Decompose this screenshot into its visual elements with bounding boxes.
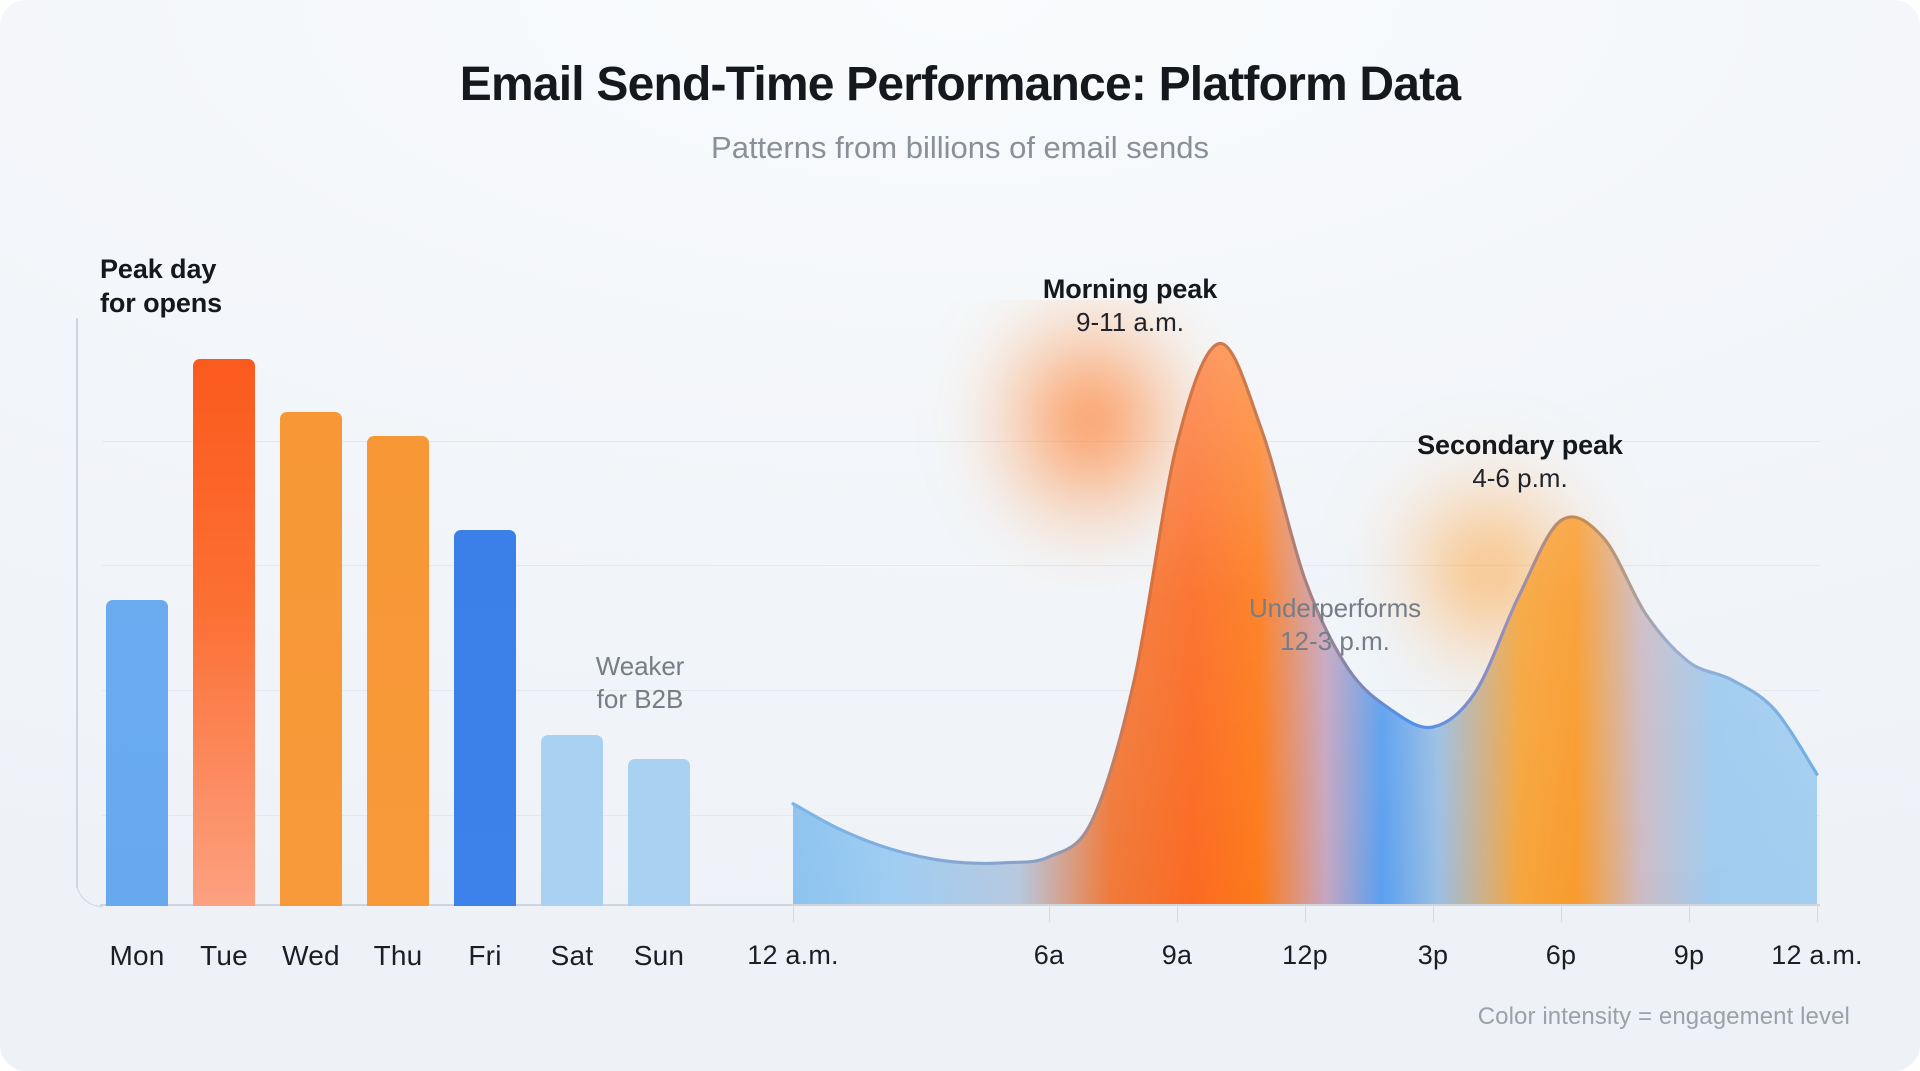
bar-fri <box>454 530 516 906</box>
time-tick-12p-3 <box>1305 905 1306 922</box>
bar-sun <box>628 759 690 906</box>
annotation-peak-day-line1: Peak day <box>100 252 330 286</box>
annotation-underperforms: Underperforms 12-3 p.m. <box>1190 592 1480 658</box>
time-tick-9p-6 <box>1689 905 1690 922</box>
time-label-3: 12p <box>1282 940 1328 971</box>
chart-card: Email Send-Time Performance: Platform Da… <box>0 0 1920 1071</box>
annotation-weaker-line2: for B2B <box>540 683 740 716</box>
weekday-label-sun: Sun <box>604 940 714 972</box>
time-label-1: 6a <box>1034 940 1064 971</box>
annotation-weaker-line1: Weaker <box>540 650 740 683</box>
time-tick-12am-7 <box>1817 905 1818 922</box>
legend-note: Color intensity = engagement level <box>1478 1003 1850 1031</box>
annotation-peak-day-line2: for opens <box>100 286 330 320</box>
bar-thu <box>367 436 429 906</box>
time-label-7: 12 a.m. <box>1771 940 1862 971</box>
annotation-morning-peak: Morning peak 9-11 a.m. <box>955 272 1305 339</box>
time-tick-9a-2 <box>1177 905 1178 922</box>
bar-tue <box>193 359 255 906</box>
time-label-5: 6p <box>1546 940 1576 971</box>
bar-sat <box>541 735 603 906</box>
annotation-under-line1: Underperforms <box>1190 592 1480 625</box>
annotation-weaker-for-b2b: Weaker for B2B <box>540 650 740 716</box>
time-label-4: 3p <box>1418 940 1448 971</box>
annotation-under-line2: 12-3 p.m. <box>1190 625 1480 658</box>
annotation-morning-line2: 9-11 a.m. <box>955 306 1305 339</box>
bar-wed <box>280 412 342 906</box>
time-label-6: 9p <box>1674 940 1704 971</box>
bar-series <box>106 318 746 906</box>
time-label-0: 12 a.m. <box>747 940 838 971</box>
annotation-secondary-line2: 4-6 p.m. <box>1340 462 1700 495</box>
annotation-secondary-peak: Secondary peak 4-6 p.m. <box>1340 428 1700 495</box>
annotation-secondary-line1: Secondary peak <box>1340 428 1700 462</box>
time-label-2: 9a <box>1162 940 1192 971</box>
y-axis <box>76 318 78 888</box>
time-tick-12am-0 <box>793 905 794 922</box>
bar-mon <box>106 600 168 906</box>
time-tick-6p-5 <box>1561 905 1562 922</box>
chart-plot-area: MonTueWedThuFriSatSun 12 a.m.6a9a12p3p6p… <box>0 0 1920 1071</box>
time-tick-3p-4 <box>1433 905 1434 922</box>
annotation-morning-line1: Morning peak <box>955 272 1305 306</box>
annotation-peak-day: Peak day for opens <box>100 252 330 320</box>
axis-corner <box>76 880 103 907</box>
time-tick-6a-1 <box>1049 905 1050 922</box>
